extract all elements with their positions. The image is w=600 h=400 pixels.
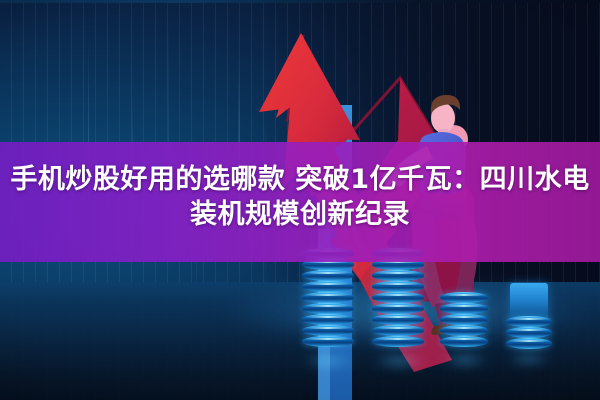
thumbnail-image: 手机炒股好用的选哪款 突破1亿千瓦：四川水电 装机规模创新纪录 — [0, 0, 600, 400]
image-vignette — [0, 0, 600, 400]
image-top-edge-line — [0, 0, 600, 3]
